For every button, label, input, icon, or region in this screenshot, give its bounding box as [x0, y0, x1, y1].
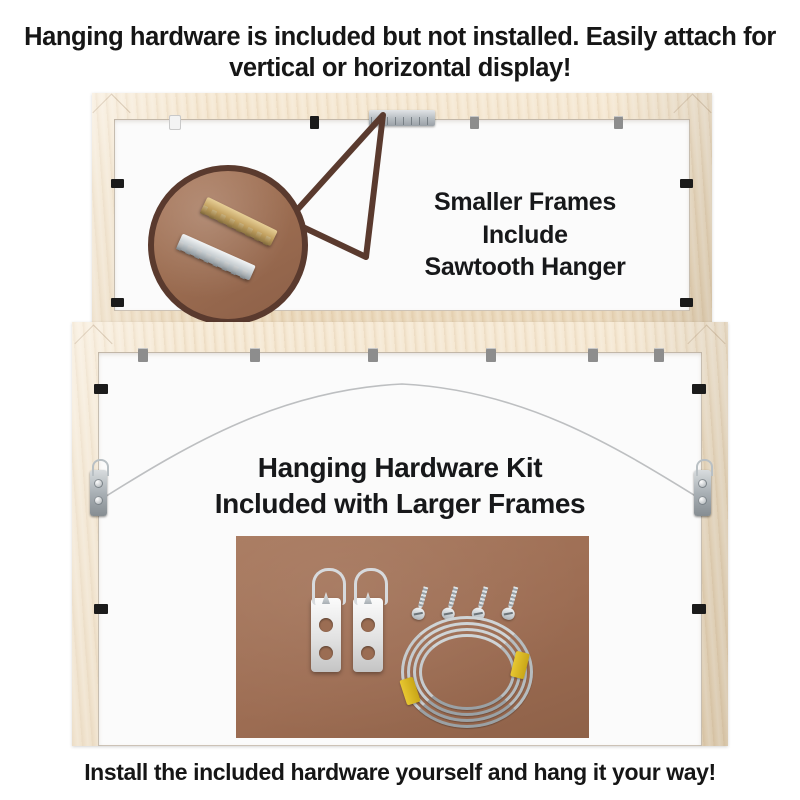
hanging-hardware-kit-photo	[236, 536, 589, 738]
retaining-clip	[250, 348, 260, 362]
sawtooth-teeth-icon	[200, 205, 274, 247]
retaining-clip	[614, 116, 623, 129]
retaining-clip	[170, 116, 180, 129]
retaining-clip	[680, 179, 693, 188]
retaining-clip	[310, 116, 319, 129]
brass-sawtooth-hanger-icon	[200, 197, 278, 246]
d-ring-hanger-icon	[311, 598, 341, 672]
screw-hole-icon	[319, 618, 333, 632]
retaining-clip	[588, 348, 598, 362]
large-frame-back: Hanging Hardware Kit Included with Large…	[72, 322, 728, 746]
retaining-clip	[138, 348, 148, 362]
screw-hole-icon	[361, 618, 375, 632]
d-ring-hanger-icon	[353, 598, 383, 672]
retaining-clip	[692, 604, 706, 614]
wire-coil-loop	[419, 634, 515, 710]
retaining-clip	[94, 604, 108, 614]
product-info-graphic: Hanging hardware is included but not ins…	[0, 0, 800, 800]
footer-caption-text: Install the included hardware yourself a…	[0, 758, 800, 786]
small-frame-callout-line-3: Sawtooth Hanger	[380, 251, 670, 284]
magnified-sawtooth-view	[148, 165, 308, 325]
retaining-clip	[470, 116, 479, 129]
retaining-clip	[692, 384, 706, 394]
sawtooth-teeth-icon	[176, 241, 253, 282]
retaining-clip	[368, 348, 378, 362]
large-frame-callout-text: Hanging Hardware Kit Included with Large…	[100, 450, 700, 522]
screw-hole-icon	[319, 646, 333, 660]
large-frame-callout-line-2: Included with Larger Frames	[100, 486, 700, 522]
large-frame-callout-line-1: Hanging Hardware Kit	[100, 450, 700, 486]
retaining-clip	[654, 348, 664, 362]
retaining-clip	[94, 384, 108, 394]
small-frame-callout-line-1: Smaller Frames	[380, 186, 670, 219]
retaining-clip	[486, 348, 496, 362]
headline-text: Hanging hardware is included but not ins…	[0, 22, 800, 84]
small-frame-callout-text: Smaller Frames Include Sawtooth Hanger	[380, 186, 670, 284]
retaining-clip	[111, 298, 124, 307]
retaining-clip	[111, 179, 124, 188]
steel-sawtooth-hanger-icon	[176, 233, 256, 280]
retaining-clip	[680, 298, 693, 307]
small-frame-callout-line-2: Include	[380, 219, 670, 252]
coiled-picture-wire-icon	[401, 616, 533, 728]
screw-hole-icon	[361, 646, 375, 660]
